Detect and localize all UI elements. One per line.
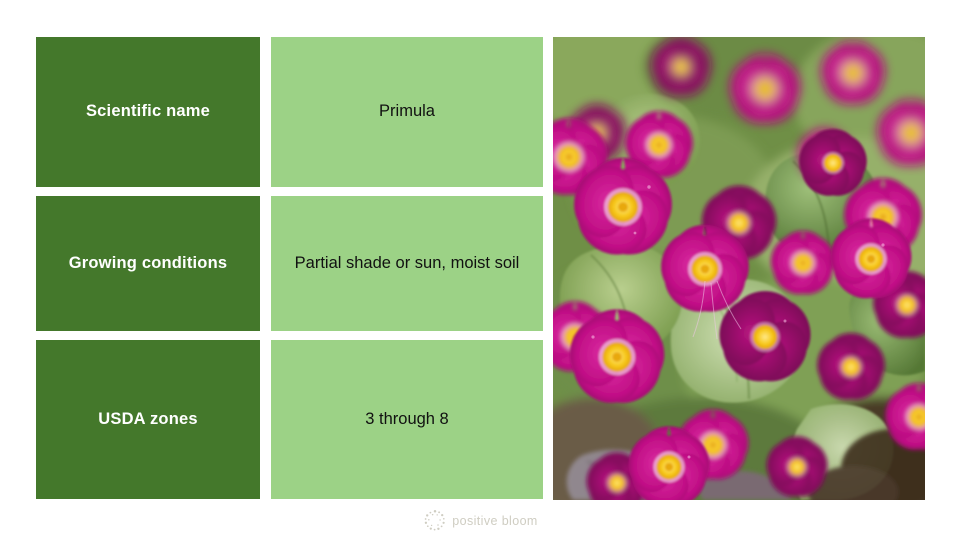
table-row-label-cell: USDA zones [36,340,260,499]
table-row-label-cell: Growing conditions [36,196,260,331]
table-row-value-cell: Partial shade or sun, moist soil [271,196,543,331]
brand-watermark-text: positive bloom [452,514,538,528]
table-row-label-text: USDA zones [98,409,198,430]
table-row-value-text: 3 through 8 [365,409,448,430]
table-row-value-text: Primula [379,101,435,122]
bloom-burst-icon [422,508,448,534]
table-row-value-text: Partial shade or sun, moist soil [295,253,520,274]
brand-watermark: positive bloom [0,505,960,537]
table-row: USDA zones 3 through 8 [36,340,543,499]
primrose-photo [553,37,925,500]
table-row-label-cell: Scientific name [36,37,260,187]
table-row-label-text: Scientific name [86,101,210,122]
table-row-label-text: Growing conditions [69,253,228,274]
table-row: Scientific name Primula [36,37,543,187]
plant-info-table: Scientific name Primula Growing conditio… [36,37,543,500]
slide-canvas: Scientific name Primula Growing conditio… [0,0,960,540]
table-row-value-cell: Primula [271,37,543,187]
table-row: Growing conditions Partial shade or sun,… [36,196,543,331]
table-row-value-cell: 3 through 8 [271,340,543,499]
